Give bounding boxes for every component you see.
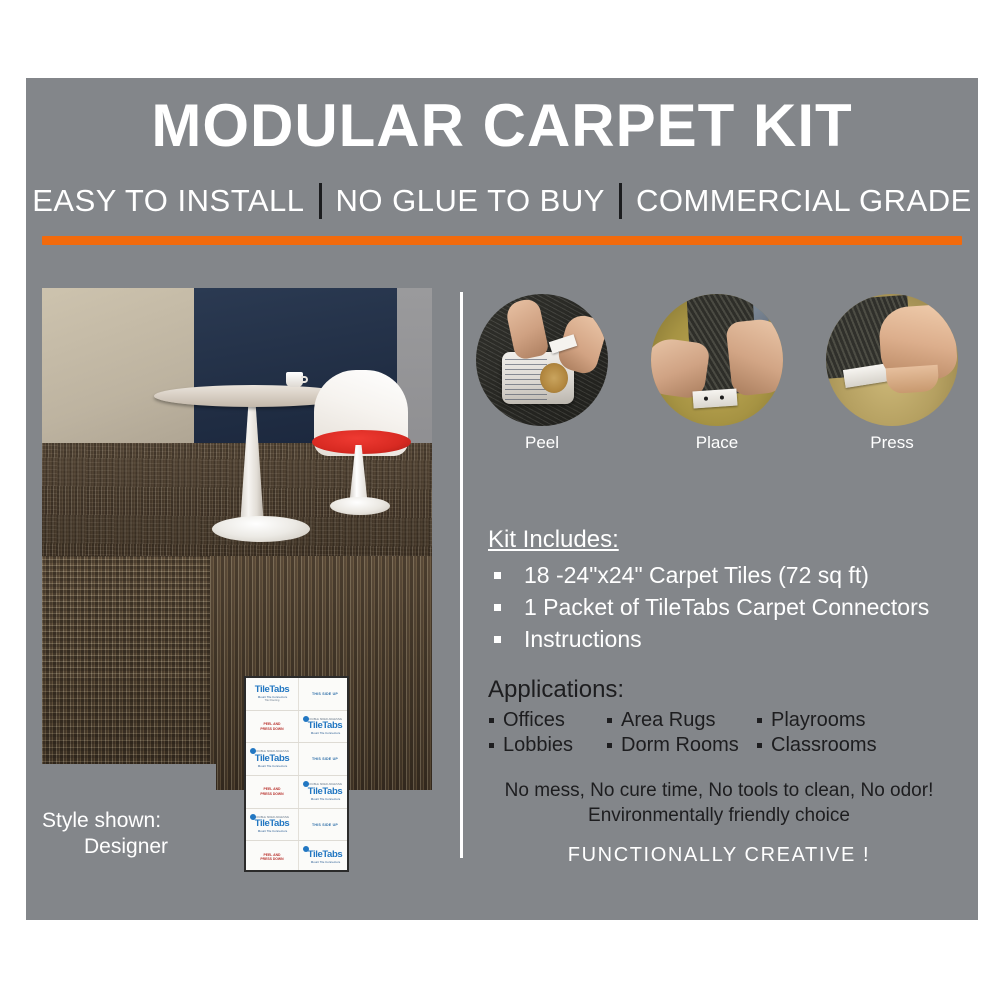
placed-tab [692, 388, 737, 408]
process-step-label: Place [647, 433, 787, 453]
chair-base [330, 497, 390, 515]
applications-list: Offices Area Rugs Playrooms Lobbies Dorm… [488, 708, 966, 757]
process-step-label: Peel [472, 433, 612, 453]
peel-press-label-2: PRESS DOWN [260, 727, 283, 731]
list-item: 1 Packet of TileTabs Carpet Connectors [488, 591, 966, 623]
subtitle-easy-to-install: EASY TO INSTALL [32, 183, 304, 219]
tiletabs-tagline: Mount Tile Connectors [257, 829, 286, 833]
tiletabs-logo: TileTabs [255, 754, 289, 764]
style-shown-label: Style shown: [42, 809, 161, 832]
tiletabs-tagline: Mount Tile Connectors [310, 797, 339, 801]
tiletabs-sheet: TileTabs Mount Tile Connectors Tile Floo… [246, 678, 349, 872]
tiletabs-cell: THIS SIDE UP [298, 809, 349, 841]
process-step-place: Place [647, 294, 787, 453]
tiletabs-dot-icon [250, 814, 256, 820]
list-item: Classrooms [756, 733, 966, 757]
subtitle-divider-2 [619, 183, 622, 219]
peel-press-label-2: PRESS DOWN [260, 792, 283, 796]
list-item: 18 -24"x24" Carpet Tiles (72 sq ft) [488, 559, 966, 591]
tiletabs-row: PEEL AND PRESS DOWN TileTabs Mount Tile … [246, 841, 349, 872]
subtitle-commercial-grade: COMMERCIAL GRADE [636, 183, 972, 219]
press-tile-onto-tab-icon [826, 294, 958, 426]
kit-includes-heading: Kit Includes: [488, 526, 966, 554]
tagline: FUNCTIONALLY CREATIVE ! [472, 844, 966, 867]
process-steps: Peel Place Press [472, 294, 962, 453]
tiletabs-dot-icon [303, 716, 309, 722]
benefits-text: No mess, No cure time, No tools to clean… [472, 778, 966, 828]
room-scene-photo [42, 288, 432, 570]
tiletabs-cell: PEEL AND PRESS DOWN [246, 711, 298, 743]
tiletabs-cell: PEEL AND PRESS DOWN [246, 841, 298, 872]
tiletabs-tagline: Mount Tile Connectors [257, 764, 286, 768]
tiletabs-cell: PEEL AND PRESS DOWN [246, 776, 298, 808]
kit-includes-list: 18 -24"x24" Carpet Tiles (72 sq ft) 1 Pa… [488, 559, 966, 655]
hand-right [725, 317, 783, 397]
process-step-press: Press [822, 294, 962, 453]
page-title: MODULAR CARPET KIT [26, 94, 978, 158]
tiletabs-row: PEEL AND PRESS DOWN DOUBLE SIDED ADHESIV… [246, 711, 349, 744]
this-side-up-label: THIS SIDE UP [312, 823, 338, 827]
tiletabs-logo: TileTabs [255, 685, 289, 695]
tiletabs-cell: THIS SIDE UP [298, 678, 349, 710]
style-shown-value: Designer [42, 834, 242, 860]
this-side-up-label: THIS SIDE UP [312, 757, 338, 761]
place-tab-under-tile-icon [651, 294, 783, 426]
peel-tab-from-roll-icon [476, 294, 608, 426]
tiletabs-cell: DOUBLE SIDED ADHESIVE TileTabs Mount Til… [246, 743, 298, 775]
column-divider [460, 292, 463, 858]
tiletabs-packet-photo: TileTabs Mount Tile Connectors Tile Floo… [244, 676, 349, 872]
tiletabs-logo: TileTabs [255, 819, 289, 829]
process-step-peel: Peel [472, 294, 612, 453]
tiletabs-subtagline: Tile Flooring [265, 699, 280, 703]
benefits-line-2: Environmentally friendly choice [472, 803, 966, 828]
roll-printed-text [505, 356, 547, 400]
subtitle-row: EASY TO INSTALL NO GLUE TO BUY COMMERCIA… [26, 183, 978, 219]
tiletabs-cell: DOUBLE SIDED ADHESIVE TileTabs Mount Til… [246, 809, 298, 841]
tiletabs-row: PEEL AND PRESS DOWN DOUBLE SIDED ADHESIV… [246, 776, 349, 809]
carpet-swatch-notch [42, 764, 216, 802]
tiletabs-logo: TileTabs [308, 850, 342, 860]
this-side-up-label: THIS SIDE UP [312, 692, 338, 696]
list-item: Playrooms [756, 708, 966, 732]
list-item: Offices [488, 708, 606, 732]
list-item: Dorm Rooms [606, 733, 756, 757]
tiletabs-dot-icon [303, 781, 309, 787]
tiletabs-cell: DOUBLE SIDED ADHESIVE TileTabs Mount Til… [298, 776, 349, 808]
process-step-label: Press [822, 433, 962, 453]
carpet-tile-swatch [42, 556, 432, 790]
tiletabs-row: TileTabs Mount Tile Connectors Tile Floo… [246, 678, 349, 711]
applications-heading: Applications: [488, 676, 966, 704]
tiletabs-tagline: Mount Tile Connectors [310, 860, 339, 864]
tiletabs-logo: TileTabs [308, 787, 342, 797]
list-item: Area Rugs [606, 708, 756, 732]
tiletabs-logo: TileTabs [308, 721, 342, 731]
tiletabs-tagline: Mount Tile Connectors [257, 695, 286, 699]
kit-includes-section: Kit Includes: 18 -24"x24" Carpet Tiles (… [488, 526, 966, 655]
subtitle-divider-1 [319, 183, 322, 219]
tiletabs-tagline: Mount Tile Connectors [310, 731, 339, 735]
peel-press-label-2: PRESS DOWN [260, 857, 283, 861]
table-base [212, 516, 310, 542]
tiletabs-cell: THIS SIDE UP [298, 743, 349, 775]
hand-pressing [878, 303, 958, 382]
coffee-cup-handle [301, 376, 308, 383]
applications-section: Applications: Offices Area Rugs Playroom… [488, 676, 966, 757]
benefits-line-1: No mess, No cure time, No tools to clean… [472, 778, 966, 803]
accent-bar [42, 236, 962, 245]
tiletabs-cell: TileTabs Mount Tile Connectors [298, 841, 349, 872]
style-shown-caption: Style shown: Designer [42, 808, 242, 860]
list-item: Lobbies [488, 733, 606, 757]
list-item: Instructions [488, 623, 966, 655]
tiletabs-cell: DOUBLE SIDED ADHESIVE TileTabs Mount Til… [298, 711, 349, 743]
product-poster: MODULAR CARPET KIT EASY TO INSTALL NO GL… [26, 78, 978, 920]
tiletabs-cell: TileTabs Mount Tile Connectors Tile Floo… [246, 678, 298, 710]
tiletabs-row: DOUBLE SIDED ADHESIVE TileTabs Mount Til… [246, 809, 349, 842]
subtitle-no-glue-to-buy: NO GLUE TO BUY [336, 183, 605, 219]
tiletabs-row: DOUBLE SIDED ADHESIVE TileTabs Mount Til… [246, 743, 349, 776]
